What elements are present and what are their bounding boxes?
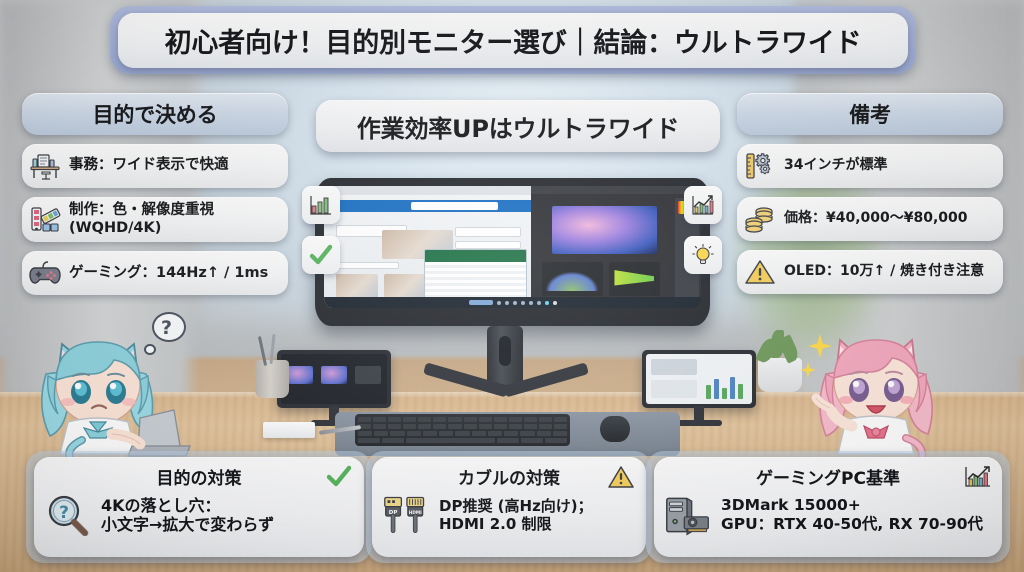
warning-icon <box>743 255 777 289</box>
left-column-header-text: 目的で決める <box>93 99 218 129</box>
thought-bubble-small <box>144 344 156 355</box>
warning-icon <box>608 465 634 489</box>
left-item-office[interactable]: 事務：ワイド表示で快適 <box>22 144 288 188</box>
question-mark-glyph: ? <box>161 317 172 339</box>
notepad <box>263 422 315 438</box>
gamepad-icon <box>28 256 62 290</box>
right-column: 備考 34インチが標準 <box>737 93 1003 303</box>
growth-chart-icon <box>684 186 722 224</box>
lightbulb-icon <box>684 236 722 274</box>
left-item-gaming[interactable]: ゲーミング：144Hz↑ / 1ms <box>22 251 288 295</box>
dp-hdmi-cables-icon: DP HDMI <box>382 493 430 537</box>
left-item-office-text: 事務：ワイド表示で快適 <box>69 157 229 175</box>
bottom-card-2-lines: DP推奨 (高Hz向け)； HDMI 2.0 制限 <box>439 497 593 533</box>
bottom-card-2-title: カブルの対策 <box>382 464 636 489</box>
bottom-card-gaming-pc[interactable]: ゲーミングPC基準 <box>654 457 1002 557</box>
left-item-creative-text: 制作：色・解像度重視 (WQHD/4K) <box>69 202 280 237</box>
right-item-oled[interactable]: OLED：10万↑ / 焼き付き注意 <box>737 250 1003 294</box>
bottom-card-purpose[interactable]: 目的の対策 ? 4Kの落とし穴： 小文字→拡大で変わらず <box>34 457 364 557</box>
screen-browser-pane <box>324 186 531 308</box>
ruler-gears-icon <box>743 149 777 183</box>
growth-chart-icon <box>964 465 990 489</box>
bottom-card-1-title: 目的の対策 <box>44 464 354 489</box>
bottom-card-3-line-2: GPU：RTX 40-50代, RX 70-90代 <box>721 515 983 534</box>
svg-text:?: ? <box>59 503 69 523</box>
right-item-size[interactable]: 34インチが標準 <box>737 144 1003 188</box>
right-item-price[interactable]: 価格：¥40,000〜¥80,000 <box>737 197 1003 241</box>
bottom-card-2-line-2: HDMI 2.0 制限 <box>439 515 593 533</box>
palette-icon <box>28 203 62 237</box>
ultrawide-monitor <box>315 178 710 326</box>
right-item-price-text: 価格：¥40,000〜¥80,000 <box>784 210 968 227</box>
desktop-pc-gpu-icon <box>664 493 712 537</box>
check-mark-icon <box>302 236 340 274</box>
screen-editor-pane <box>531 186 701 308</box>
left-sub-monitor <box>277 350 391 408</box>
right-sub-monitor <box>642 350 756 408</box>
monitor-screen <box>324 186 701 308</box>
right-item-size-text: 34インチが標準 <box>784 157 887 174</box>
infographic-stage: ? <box>0 0 1024 572</box>
center-banner-text: 作業効率UPはウルトラワイド <box>357 109 679 144</box>
bottom-card-2-line-1: DP推奨 (高Hz向け)； <box>439 497 593 515</box>
pink-cat-girl-mascot <box>800 318 970 458</box>
coins-icon <box>743 202 777 236</box>
right-sub-monitor-base <box>676 420 722 426</box>
bottom-card-3-title: ゲーミングPC基準 <box>664 464 992 489</box>
bottom-card-1-lines: 4Kの落とし穴： 小文字→拡大で変わらず <box>101 496 274 534</box>
page-title-text: 初心者向け！目的別モニター選び｜結論：ウルトラワイド <box>165 21 862 60</box>
right-column-header: 備考 <box>737 93 1003 135</box>
magnifier-question-icon: ? <box>44 493 92 537</box>
page-title: 初心者向け！目的別モニター選び｜結論：ウルトラワイド <box>118 13 908 68</box>
plant-pot <box>758 358 802 392</box>
center-banner: 作業効率UPはウルトラワイド <box>316 100 720 152</box>
blue-cat-girl-mascot: ? <box>28 318 198 458</box>
right-item-oled-text: OLED：10万↑ / 焼き付き注意 <box>784 263 984 280</box>
check-mark-icon <box>326 465 352 489</box>
left-column: 目的で決める 事務：ワイド表示で快適 <box>22 93 288 304</box>
bottom-card-1-line-1: 4Kの落とし穴： <box>101 496 274 515</box>
keyboard <box>355 414 570 446</box>
bottom-card-3-line-1: 3DMark 15000+ <box>721 496 983 515</box>
pen-cup <box>255 360 289 398</box>
screen-taskbar <box>324 297 701 308</box>
bottom-card-3-lines: 3DMark 15000+ GPU：RTX 40-50代, RX 70-90代 <box>721 496 983 533</box>
bottom-card-cable[interactable]: カブルの対策 DP <box>372 457 646 557</box>
bar-chart-icon <box>302 186 340 224</box>
left-column-header: 目的で決める <box>22 93 288 135</box>
editor-canvas-image <box>552 206 657 255</box>
bottom-card-1-line-2: 小文字→拡大で変わらず <box>101 515 274 534</box>
right-column-header-text: 備考 <box>849 99 891 129</box>
left-item-gaming-text: ゲーミング：144Hz↑ / 1ms <box>69 265 268 283</box>
mouse <box>600 416 630 442</box>
desk-icon <box>28 149 62 183</box>
left-item-creative[interactable]: 制作：色・解像度重視 (WQHD/4K) <box>22 197 288 242</box>
